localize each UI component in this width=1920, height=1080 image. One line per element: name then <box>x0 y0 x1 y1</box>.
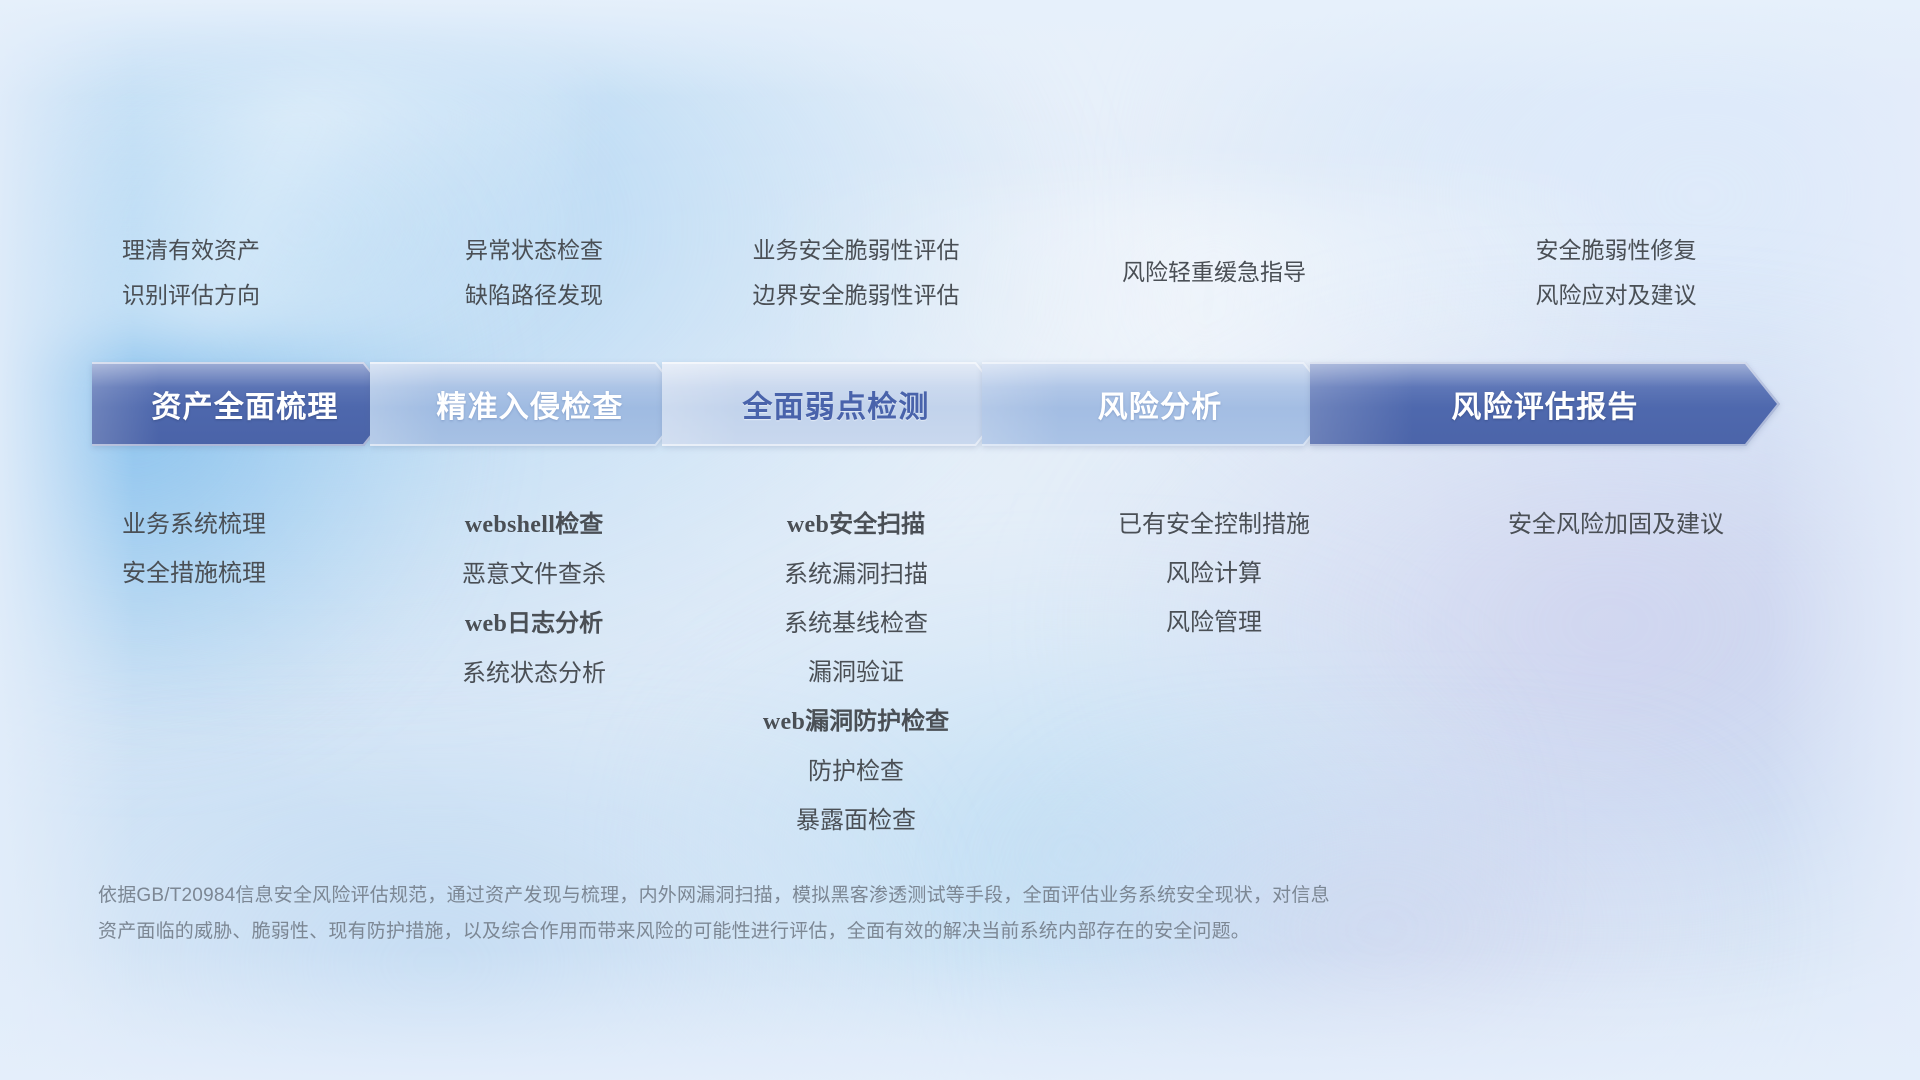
stage-3-activity-item: 漏洞验证 <box>808 648 904 697</box>
footer-line-1: 依据GB/T20984信息安全风险评估规范，通过资产发现与梳理，内外网漏洞扫描，… <box>98 878 1638 914</box>
stage-2-activity-item: web日志分析 <box>465 599 603 649</box>
stage-2-input-item: 缺陷路径发现 <box>465 273 603 318</box>
stage-1-input-item: 识别评估方向 <box>122 273 260 318</box>
stage-3-activity-item: 系统基线检查 <box>784 599 928 648</box>
stage-5-activities: 安全风险加固及建议 <box>1400 500 1832 549</box>
footer-description: 依据GB/T20984信息安全风险评估规范，通过资产发现与梳理，内外网漏洞扫描，… <box>98 878 1638 950</box>
stage-activities-row: 业务系统梳理 安全措施梳理 webshell检查 恶意文件查杀 web日志分析 … <box>96 500 1832 845</box>
stage-3-input-item: 边界安全脆弱性评估 <box>753 273 960 318</box>
stage-2-activity-item: webshell检查 <box>465 500 603 550</box>
stage-3-activity-item: 系统漏洞扫描 <box>784 550 928 599</box>
stage-1-activity-item: 业务系统梳理 <box>122 500 266 549</box>
stage-1-activities: 业务系统梳理 安全措施梳理 <box>96 500 384 598</box>
chevron-label: 资产全面梳理 <box>151 382 338 426</box>
chevron-stage-intrusion-check[interactable]: 精准入侵检查 <box>370 362 690 446</box>
stage-5-inputs: 安全脆弱性修复 风险应对及建议 <box>1400 228 1832 318</box>
stage-3-activity-item: web漏洞防护检查 <box>763 697 949 747</box>
stage-3-activity-item: 防护检查 <box>808 747 904 796</box>
stage-2-activity-item: 系统状态分析 <box>462 649 606 698</box>
chevron-label: 全面弱点检测 <box>742 382 929 426</box>
stage-5-activity-item: 安全风险加固及建议 <box>1508 500 1724 549</box>
stage-2-input-item: 异常状态检查 <box>465 228 603 273</box>
chevron-label: 精准入侵检查 <box>436 382 623 426</box>
stage-4-activities: 已有安全控制措施 风险计算 风险管理 <box>1028 500 1400 647</box>
stage-4-activity-item: 风险管理 <box>1166 598 1262 647</box>
stage-4-input-item: 风险轻重缓急指导 <box>1122 250 1306 295</box>
stage-1-input-item: 理清有效资产 <box>122 228 260 273</box>
stage-2-activity-item: 恶意文件查杀 <box>462 550 606 599</box>
stage-2-inputs: 异常状态检查 缺陷路径发现 <box>384 228 684 318</box>
stage-4-inputs: 风险轻重缓急指导 <box>1028 228 1400 318</box>
stage-chevron-banner: 资产全面梳理 精准入侵检查 全面弱点检测 风险分析 风险评估报告 <box>92 362 1836 446</box>
stage-5-input-item: 风险应对及建议 <box>1536 273 1697 318</box>
stage-1-activity-item: 安全措施梳理 <box>122 549 266 598</box>
stage-4-activity-item: 已有安全控制措施 <box>1118 500 1310 549</box>
chevron-stage-asset-inventory[interactable]: 资产全面梳理 <box>92 362 398 446</box>
chevron-stage-weakness-detection[interactable]: 全面弱点检测 <box>662 362 1010 446</box>
stage-3-activity-item: 暴露面检查 <box>796 796 916 845</box>
stage-3-inputs: 业务安全脆弱性评估 边界安全脆弱性评估 <box>684 228 1028 318</box>
process-diagram: 理清有效资产 识别评估方向 异常状态检查 缺陷路径发现 业务安全脆弱性评估 边界… <box>0 0 1920 1080</box>
chevron-stage-risk-analysis[interactable]: 风险分析 <box>982 362 1338 446</box>
chevron-label: 风险分析 <box>1098 382 1223 426</box>
stage-3-activities: web安全扫描 系统漏洞扫描 系统基线检查 漏洞验证 web漏洞防护检查 防护检… <box>684 500 1028 845</box>
stage-3-activity-item: web安全扫描 <box>787 500 925 550</box>
stage-1-inputs: 理清有效资产 识别评估方向 <box>96 228 384 318</box>
stage-2-activities: webshell检查 恶意文件查杀 web日志分析 系统状态分析 <box>384 500 684 698</box>
chevron-stage-risk-report[interactable]: 风险评估报告 <box>1310 362 1780 446</box>
footer-line-2: 资产面临的威胁、脆弱性、现有防护措施，以及综合作用而带来风险的可能性进行评估，全… <box>98 914 1638 950</box>
stage-3-input-item: 业务安全脆弱性评估 <box>753 228 960 273</box>
stage-inputs-row: 理清有效资产 识别评估方向 异常状态检查 缺陷路径发现 业务安全脆弱性评估 边界… <box>96 228 1832 318</box>
chevron-label: 风险评估报告 <box>1451 382 1638 426</box>
stage-5-input-item: 安全脆弱性修复 <box>1536 228 1697 273</box>
stage-4-activity-item: 风险计算 <box>1166 549 1262 598</box>
